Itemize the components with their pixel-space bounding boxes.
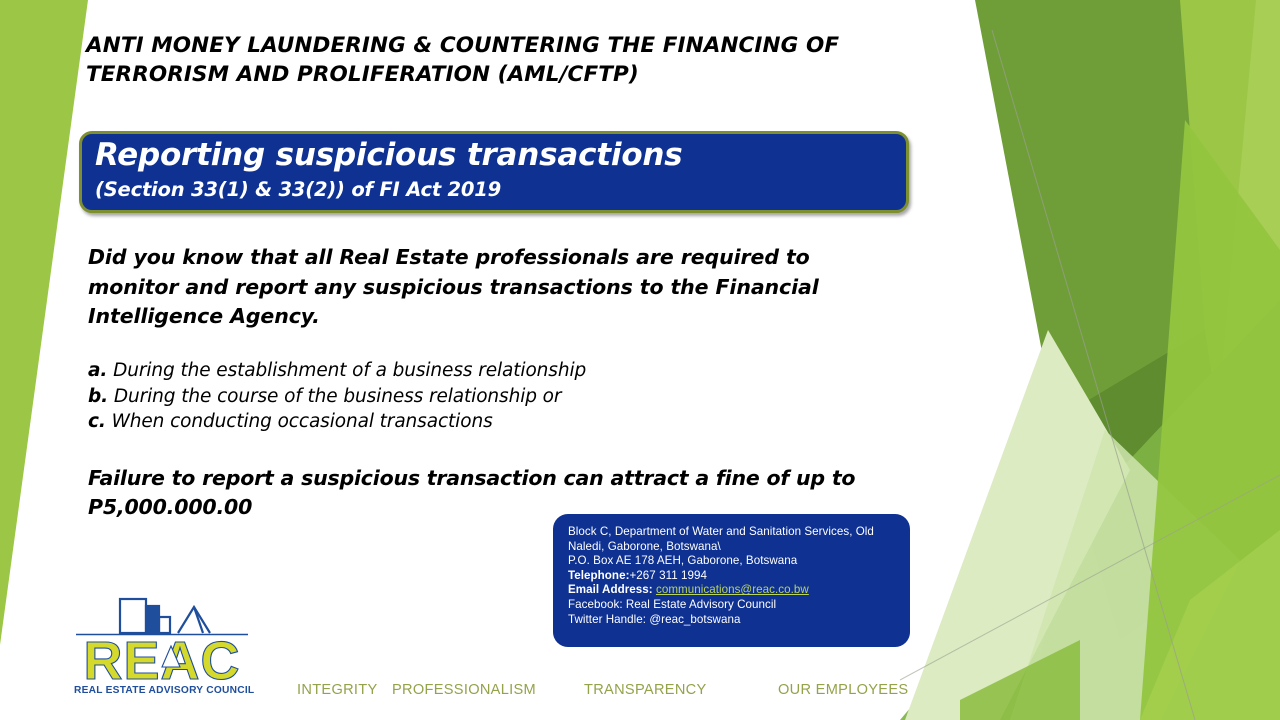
- facet-bright-right: [1140, 120, 1280, 720]
- logo-mark: REAC: [74, 589, 250, 689]
- contact-email: Email Address: communications@reac.co.bw: [568, 583, 896, 598]
- telephone-value: +267 311 1994: [629, 569, 706, 582]
- logo-tagline: REAL ESTATE ADVISORY COUNCIL: [74, 685, 250, 696]
- list-item-marker: b.: [88, 386, 108, 407]
- facet-dark-top: [975, 0, 1205, 420]
- twitter-value: @reac_botswana: [649, 613, 740, 626]
- reac-logo: REAC REAL ESTATE ADVISORY COUNCIL: [74, 589, 250, 707]
- list-item: b. During the course of the business rel…: [88, 384, 728, 410]
- footer-value-professionalism: PROFESSIONALISM: [392, 682, 536, 698]
- footer-value-integrity: INTEGRITY: [297, 682, 378, 698]
- facet-dark-mid: [1055, 330, 1240, 640]
- twitter-label: Twitter Handle:: [568, 613, 646, 626]
- hairline-diagonal-lower: [900, 475, 1280, 680]
- facet-pale-left: [905, 330, 1130, 720]
- list-item-label: During the course of the business relati…: [114, 386, 562, 407]
- facet-mid-green: [900, 300, 1280, 720]
- right-green-panel-base: [1030, 0, 1280, 720]
- facebook-label: Facebook:: [568, 598, 623, 611]
- list-item-label: When conducting occasional transactions: [112, 411, 493, 432]
- slide-canvas: ANTI MONEY LAUNDERING & COUNTERING THE F…: [0, 0, 1280, 720]
- page-title: ANTI MONEY LAUNDERING & COUNTERING THE F…: [86, 31, 846, 89]
- contact-address: Block C, Department of Water and Sanitat…: [568, 525, 896, 554]
- email-label: Email Address:: [568, 583, 653, 596]
- contact-twitter: Twitter Handle: @reac_botswana: [568, 613, 896, 628]
- facet-light-sliver: [1140, 530, 1280, 720]
- skyline-icon: [76, 599, 248, 635]
- contact-facebook: Facebook: Real Estate Advisory Council: [568, 598, 896, 613]
- hairline-diagonal-upper: [992, 30, 1195, 720]
- contact-card: Block C, Department of Water and Sanitat…: [553, 514, 910, 647]
- facebook-value: Real Estate Advisory Council: [626, 598, 776, 611]
- list-item-marker: c.: [88, 411, 106, 432]
- telephone-label: Telephone:: [568, 569, 629, 582]
- banner-title: Reporting suspicious transactions: [95, 135, 683, 175]
- right-green-panel-light: [1190, 0, 1280, 720]
- list-item: a. During the establishment of a busines…: [88, 358, 728, 384]
- lead-paragraph: Did you know that all Real Estate profes…: [88, 243, 828, 332]
- section-banner: Reporting suspicious transactions (Secti…: [79, 131, 909, 213]
- contact-postal: P.O. Box AE 178 AEH, Gaborone, Botswana: [568, 554, 896, 569]
- list-item-marker: a.: [88, 360, 107, 381]
- facet-bottom-wedge: [960, 640, 1080, 720]
- facet-pale-overlay: [1010, 430, 1240, 720]
- left-green-wedge: [0, 0, 88, 645]
- contact-telephone: Telephone:+267 311 1994: [568, 569, 896, 584]
- list-item: c. When conducting occasional transactio…: [88, 409, 728, 435]
- banner-subtitle: (Section 33(1) & 33(2)) of FI Act 2019: [95, 177, 501, 203]
- footer-value-transparency: TRANSPARENCY: [584, 682, 707, 698]
- list-item-label: During the establishment of a business r…: [113, 360, 586, 381]
- conditions-list: a. During the establishment of a busines…: [88, 358, 728, 435]
- footer-value-our-employees: OUR EMPLOYEES: [778, 682, 908, 698]
- email-link[interactable]: communications@reac.co.bw: [656, 583, 809, 596]
- logo-acronym: REAC: [83, 631, 240, 689]
